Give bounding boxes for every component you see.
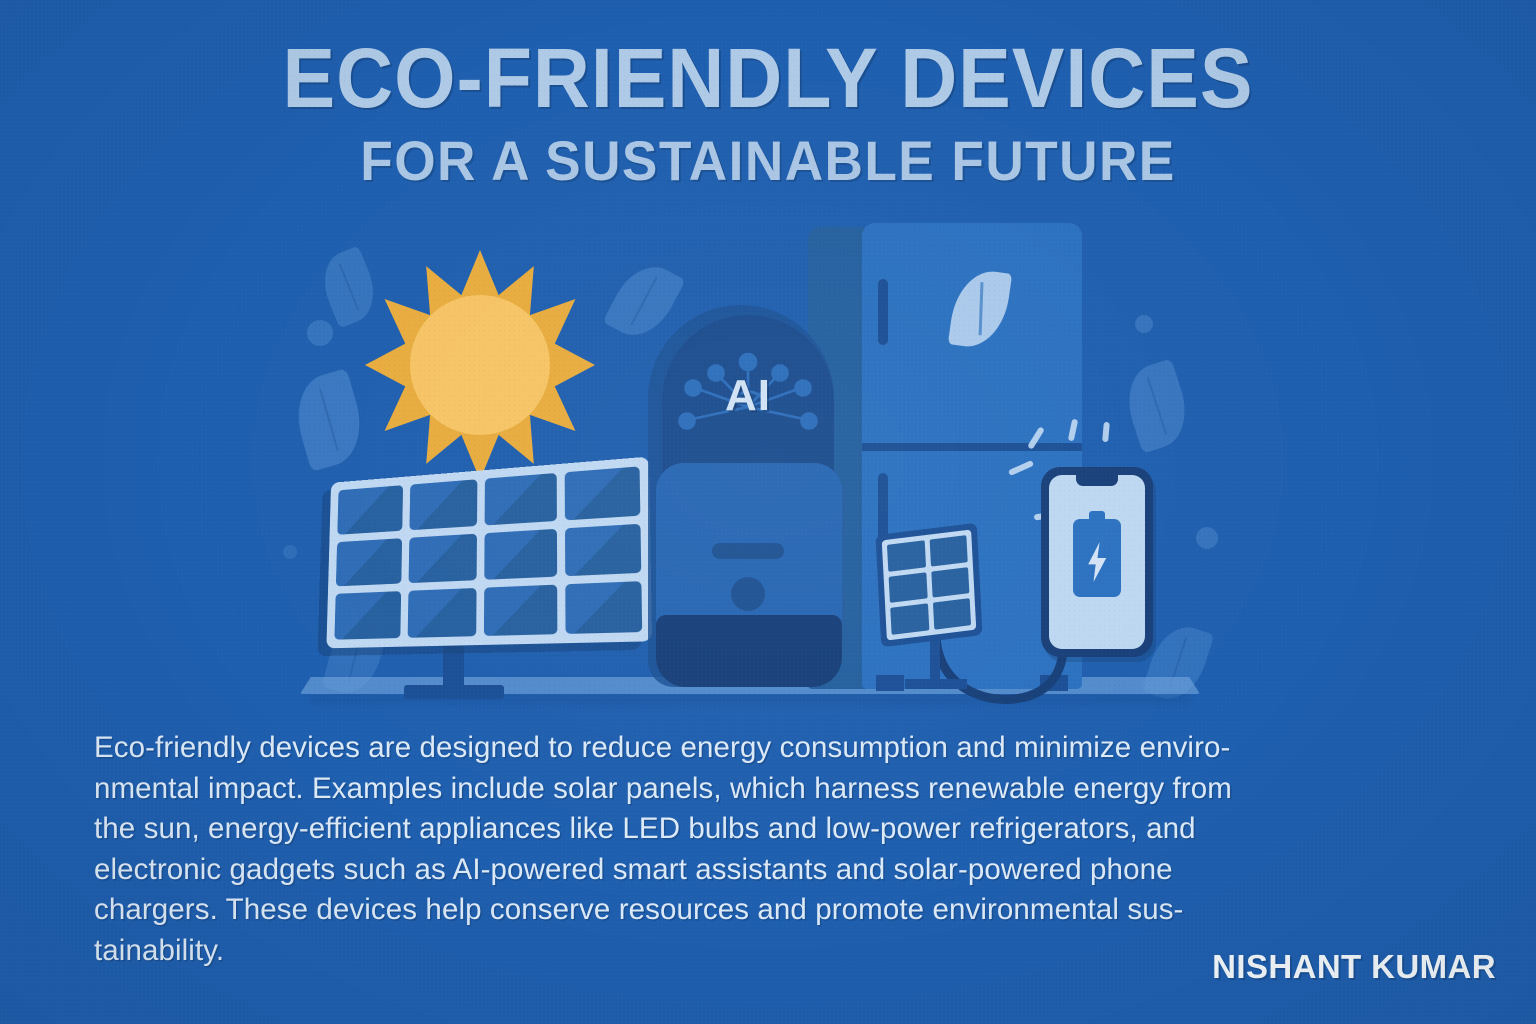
page-title: ECO-FRIENDLY DEVICES: [46, 36, 1490, 122]
smart-assistant-speaker-slot: [712, 543, 784, 559]
solar-cell: [334, 591, 400, 639]
solar-cell: [564, 466, 640, 520]
illustration-stage: AI: [0, 215, 1536, 725]
charging-smartphone: [1041, 467, 1153, 657]
solar-cell: [932, 598, 971, 629]
phone-screen: [1049, 475, 1145, 649]
solar-cell: [409, 479, 477, 530]
sparkle-icon: [1008, 460, 1034, 476]
solar-cell: [890, 604, 929, 635]
sparkle-icon: [1102, 422, 1110, 442]
page-subtitle: FOR A SUSTAINABLE FUTURE: [38, 128, 1497, 193]
solar-panel: [326, 457, 652, 649]
solar-cell: [484, 529, 556, 581]
solar-cell: [407, 588, 476, 638]
sun-core: [410, 295, 550, 435]
solar-cell: [887, 540, 926, 571]
decorative-dot: [1196, 527, 1218, 549]
body-paragraph: Eco-friendly devices are designed to red…: [94, 728, 1494, 971]
smart-assistant-base: [656, 615, 842, 687]
refrigerator-freezer-handle: [878, 279, 888, 345]
solar-cell: [337, 485, 402, 534]
refrigerator-foot: [876, 675, 904, 691]
solar-cell: [929, 535, 968, 566]
solar-cell: [336, 538, 402, 587]
phone-notch: [1076, 475, 1118, 486]
poster-heading-block: ECO-FRIENDLY DEVICES FOR A SUSTAINABLE F…: [0, 36, 1536, 193]
solar-cell: [408, 533, 477, 583]
sun-icon: [365, 250, 595, 480]
decorative-dot: [1135, 315, 1153, 333]
solar-cell: [485, 473, 557, 525]
decorative-dot: [283, 545, 297, 559]
smart-assistant-button[interactable]: [731, 577, 765, 611]
solar-phone-charger: [875, 523, 982, 648]
solar-panel-pole: [443, 639, 464, 691]
ai-smart-assistant: AI: [662, 315, 834, 687]
solar-cell: [484, 585, 557, 636]
solar-cell: [564, 523, 641, 576]
ai-badge-label: AI: [662, 371, 834, 421]
sparkle-icon: [1027, 426, 1045, 450]
solar-cell: [889, 572, 928, 603]
solar-cell: [565, 581, 642, 634]
decorative-dot: [307, 320, 333, 346]
solar-panel-board: [326, 457, 652, 649]
mini-panel-grid: [882, 529, 977, 640]
author-signature: NISHANT KUMAR: [1212, 948, 1496, 986]
solar-cell: [931, 567, 970, 598]
leaf-icon: [287, 368, 371, 472]
